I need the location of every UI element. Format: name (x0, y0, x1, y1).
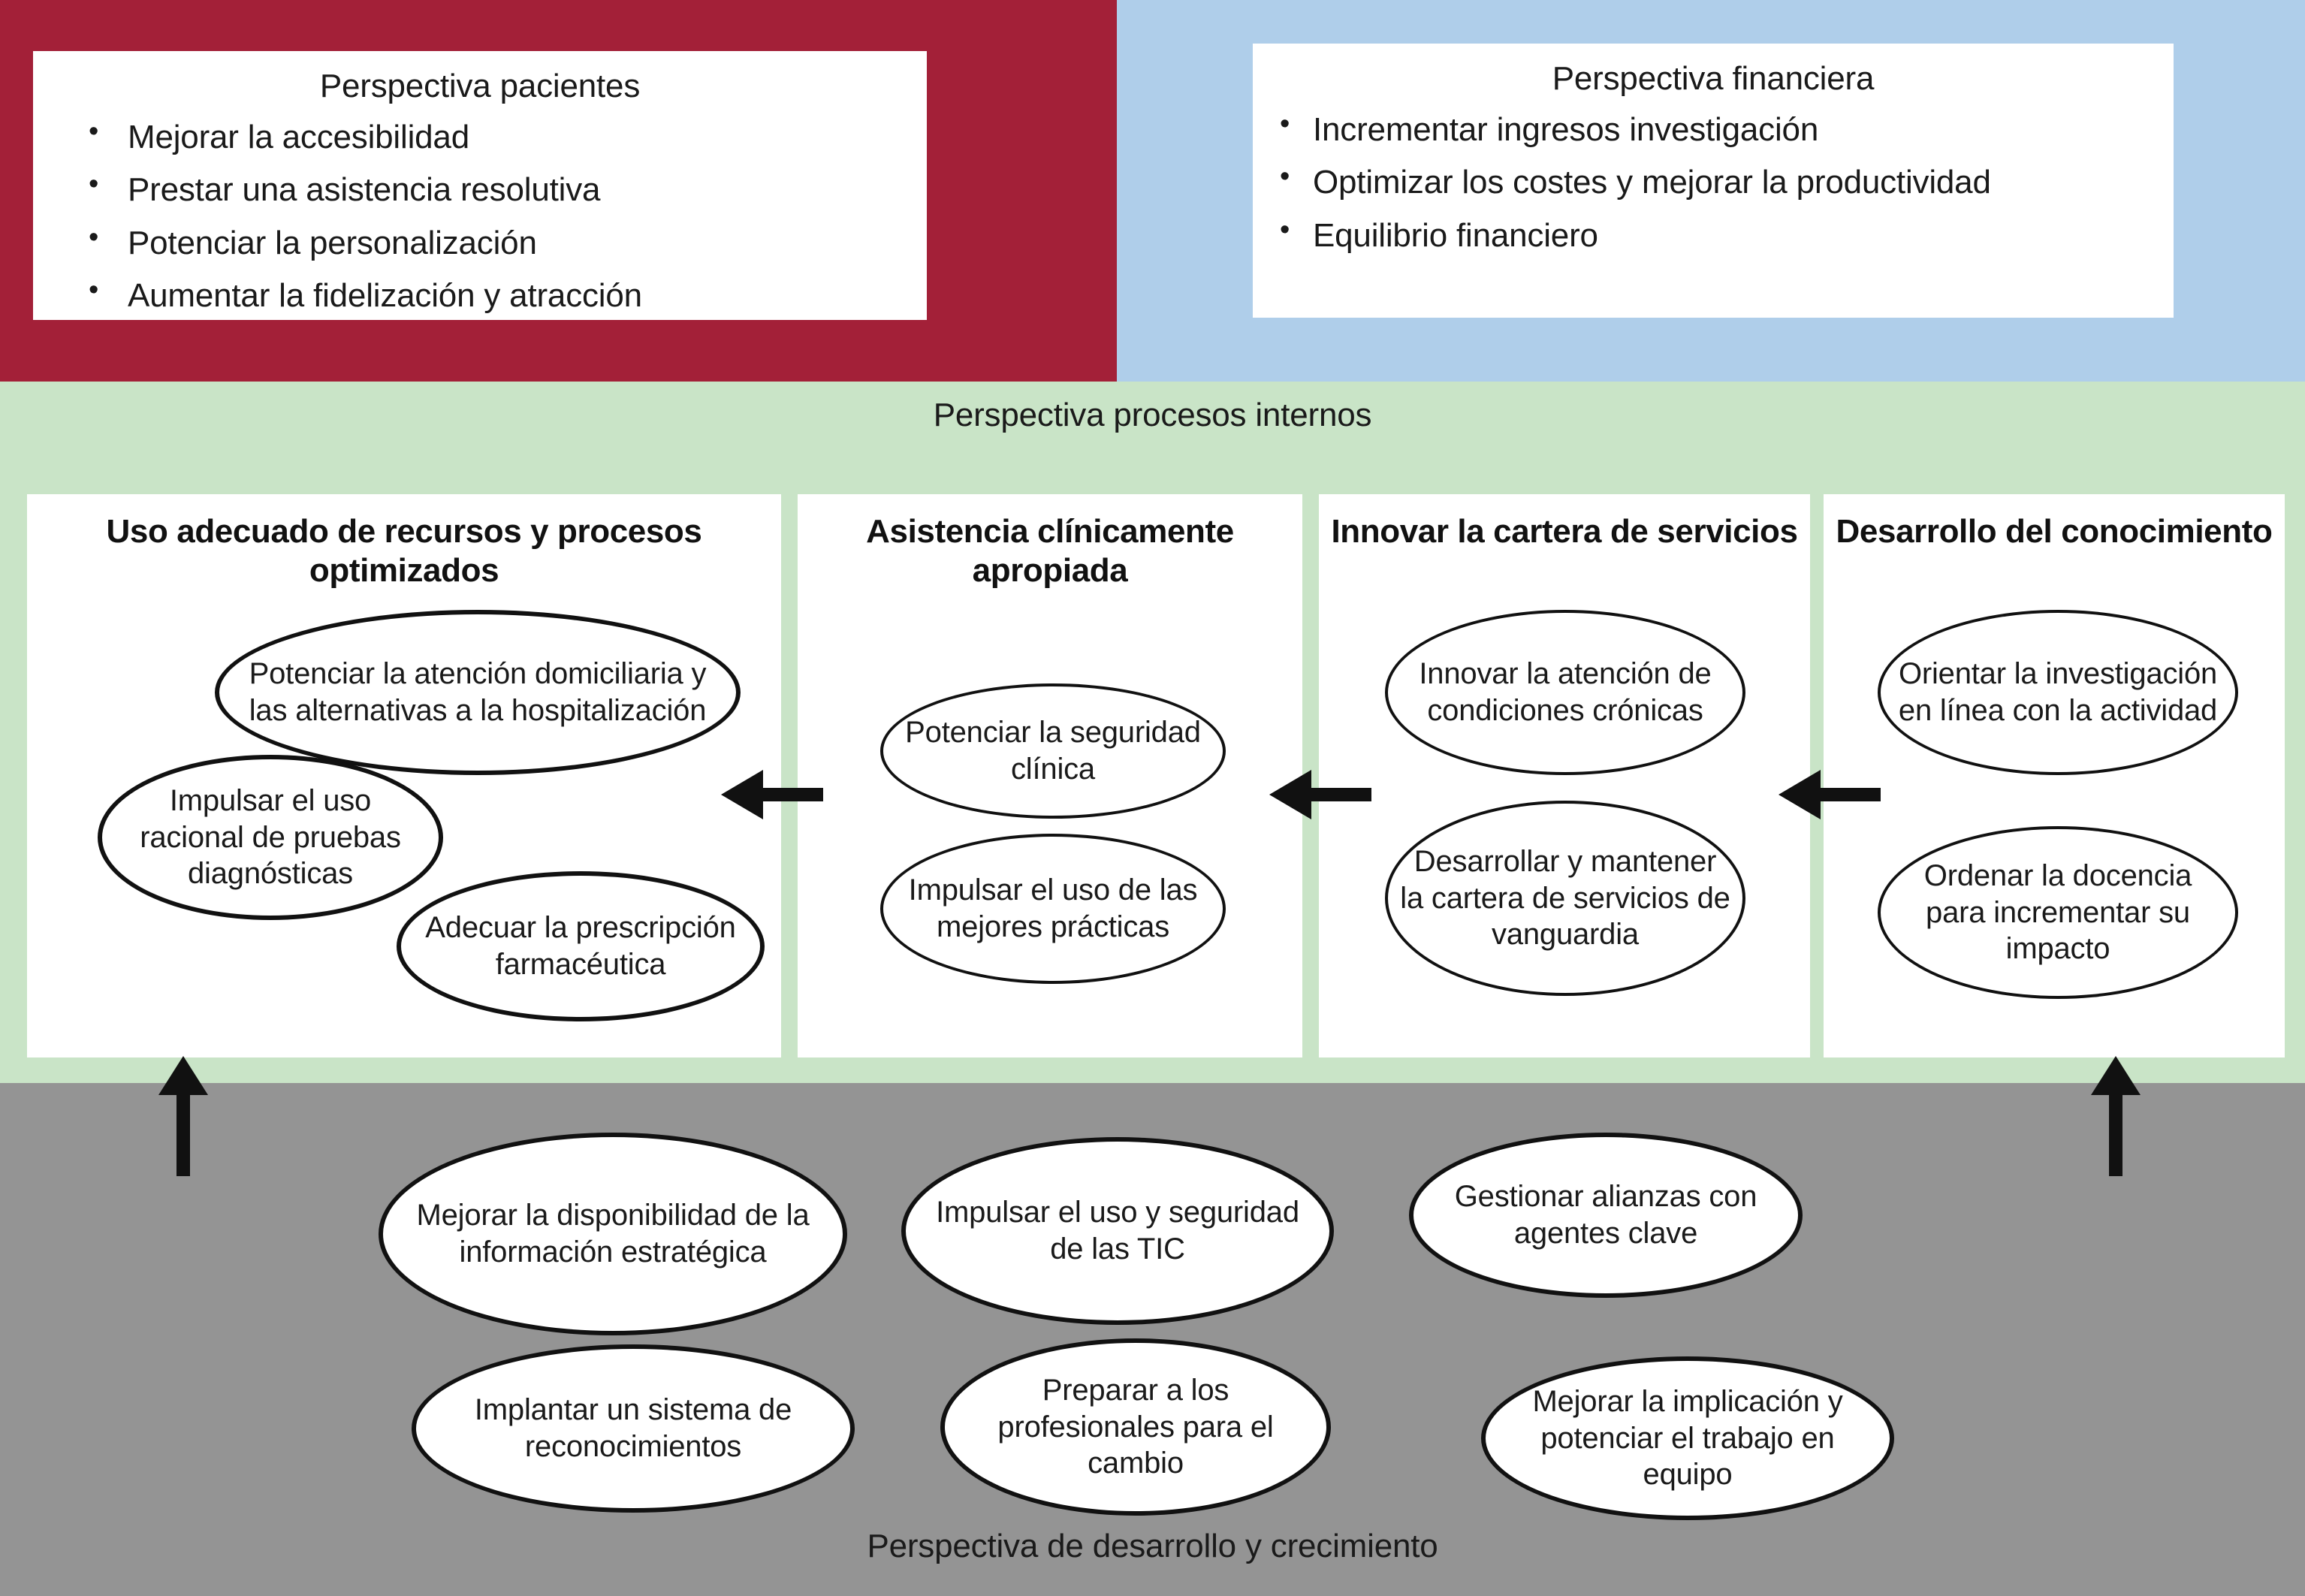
panel-title: Desarrollo del conocimiento (1824, 494, 2285, 551)
objective-label: Ordenar la docencia para incrementar su … (1881, 858, 2235, 967)
growth-perspective-title: Perspectiva de desarrollo y crecimiento (0, 1528, 2305, 1565)
objective-label: Orientar la investigación en línea con l… (1881, 656, 2235, 729)
objective-node: Innovar la atención de condiciones cróni… (1385, 610, 1745, 775)
panel-title: Innovar la cartera de servicios (1319, 494, 1810, 551)
panel-title: Uso adecuado de recursos y procesos opti… (27, 494, 781, 590)
objective-node: Desarrollar y mantener la cartera de ser… (1385, 801, 1745, 996)
strategy-map: Perspectiva pacientes Mejorar la accesib… (0, 0, 2305, 1596)
objective-node: Impulsar el uso y seguridad de las TIC (901, 1137, 1334, 1325)
objective-label: Mejorar la implicación y potenciar el tr… (1486, 1383, 1890, 1493)
objective-node: Impulsar el uso racional de pruebas diag… (98, 755, 443, 920)
objective-node: Mejorar la disponibilidad de la informac… (379, 1133, 847, 1335)
objective-node: Potenciar la seguridad clínica (880, 683, 1226, 819)
objective-node: Ordenar la docencia para incrementar su … (1878, 826, 2238, 999)
objective-label: Impulsar el uso racional de pruebas diag… (102, 783, 439, 892)
objective-label: Desarrollar y mantener la cartera de ser… (1388, 843, 1742, 953)
objective-label: Potenciar la seguridad clínica (883, 714, 1223, 788)
arrow-shaft (762, 788, 823, 801)
arrow-shaft (176, 1092, 190, 1176)
patients-objectives-list: Mejorar la accesibilidad Prestar una asi… (33, 114, 927, 320)
arrow-head (721, 770, 763, 819)
objective-node: Impulsar el uso de las mejores prácticas (880, 834, 1226, 984)
objective-node: Mejorar la implicación y potenciar el tr… (1481, 1356, 1894, 1520)
arrow-head (1779, 770, 1821, 819)
patients-perspective-title: Perspectiva pacientes (33, 51, 927, 114)
list-item: Equilibrio financiero (1274, 213, 2144, 259)
list-item: Aumentar la fidelización y atracción (78, 273, 897, 319)
objective-label: Adecuar la prescripción farmacéutica (401, 910, 760, 983)
objective-label: Impulsar el uso y seguridad de las TIC (906, 1194, 1329, 1268)
financial-objectives-list: Incrementar ingresos investigación Optim… (1253, 107, 2174, 259)
list-item: Potenciar la personalización (78, 220, 897, 267)
objective-node: Preparar a los profesionales para el cam… (940, 1338, 1331, 1516)
arrow-shaft (2109, 1092, 2122, 1176)
arrow-shaft (1819, 788, 1881, 801)
objective-label: Potenciar la atención domiciliaria y las… (219, 656, 736, 729)
objective-label: Gestionar alianzas con agentes clave (1413, 1178, 1798, 1252)
objective-label: Implantar un sistema de reconocimientos (416, 1392, 850, 1465)
objective-label: Innovar la atención de condiciones cróni… (1388, 656, 1742, 729)
objective-label: Mejorar la disponibilidad de la informac… (383, 1197, 843, 1271)
arrow-head (158, 1056, 208, 1095)
list-item: Optimizar los costes y mejorar la produc… (1274, 159, 2144, 206)
list-item: Incrementar ingresos investigación (1274, 107, 2144, 153)
patients-perspective-card: Perspectiva pacientes Mejorar la accesib… (33, 51, 927, 320)
arrow-head (1269, 770, 1311, 819)
arrow-head (2091, 1056, 2141, 1095)
objective-label: Impulsar el uso de las mejores prácticas (883, 872, 1223, 946)
internal-processes-title: Perspectiva procesos internos (0, 397, 2305, 434)
arrow-shaft (1310, 788, 1371, 801)
objective-node: Gestionar alianzas con agentes clave (1409, 1133, 1803, 1298)
panel-title: Asistencia clínicamente apropiada (798, 494, 1302, 590)
list-item: Mejorar la accesibilidad (78, 114, 897, 161)
objective-node: Orientar la investigación en línea con l… (1878, 610, 2238, 775)
financial-perspective-title: Perspectiva financiera (1253, 44, 2174, 107)
objective-node: Potenciar la atención domiciliaria y las… (215, 610, 741, 775)
list-item: Prestar una asistencia resolutiva (78, 167, 897, 213)
objective-node: Adecuar la prescripción farmacéutica (397, 871, 765, 1021)
objective-label: Preparar a los profesionales para el cam… (945, 1372, 1326, 1482)
financial-perspective-card: Perspectiva financiera Incrementar ingre… (1253, 44, 2174, 318)
objective-node: Implantar un sistema de reconocimientos (412, 1344, 855, 1513)
